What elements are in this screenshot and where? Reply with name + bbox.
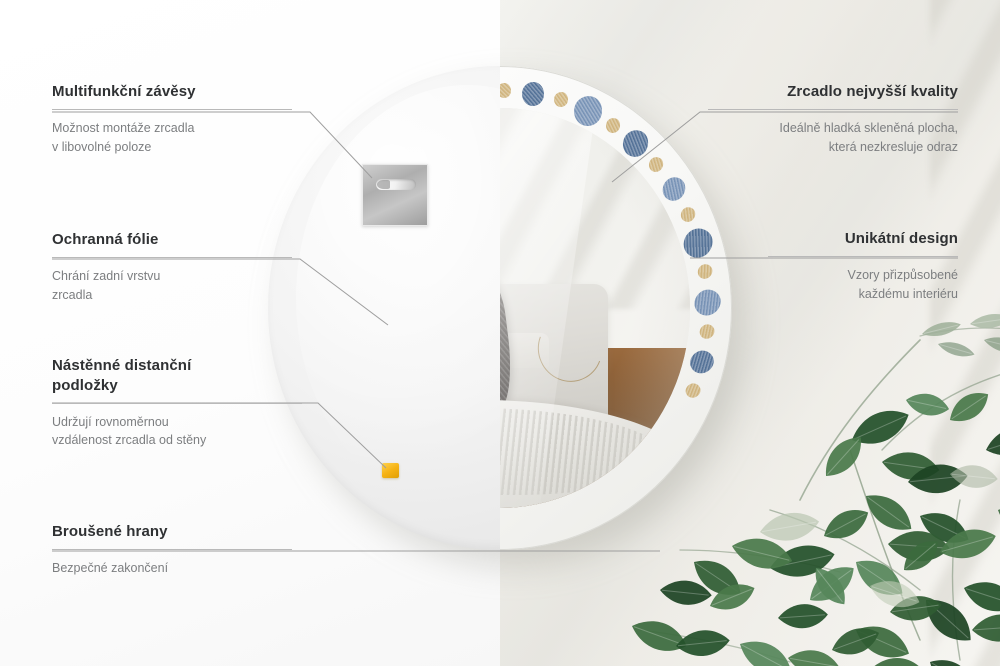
spacer-pad-icon [382, 463, 399, 478]
callout-title: Zrcadlo nejvyšší kvality [708, 82, 958, 102]
callout-protective-foil: Ochranná fólie Chrání zadní vrstvu zrcad… [52, 230, 292, 304]
hanger-keyhole-slot [376, 179, 416, 190]
deco-dot-gold [683, 381, 702, 400]
callout-title: Multifunkční závěsy [52, 82, 292, 102]
callout-title: Ochranná fólie [52, 230, 292, 250]
callout-top-quality-mirror: Zrcadlo nejvyšší kvality Ideálně hladká … [708, 82, 958, 156]
callout-multifunctional-hangers: Multifunkční závěsy Možnost montáže zrca… [52, 82, 292, 156]
callout-title: Unikátní design [768, 229, 958, 249]
hanger-plate-icon [362, 164, 428, 226]
callout-unique-design: Unikátní design Vzory přizpůsobené každé… [768, 229, 958, 303]
callout-description: Bezpečné zakončení [52, 559, 292, 578]
callout-description: Ideálně hladká skleněná plocha, která ne… [708, 119, 958, 157]
round-mirror [268, 66, 732, 550]
callout-description: Udržují rovnoměrnou vzdálenost zrcadla o… [52, 413, 302, 451]
callout-description: Možnost montáže zrcadla v libovolné polo… [52, 119, 292, 157]
deco-dot-gold [697, 322, 717, 342]
deco-dot-blue [619, 126, 653, 161]
deco-dot-gold [695, 262, 716, 283]
callout-divider [52, 257, 292, 258]
callout-divider [708, 109, 958, 110]
callout-divider [52, 109, 292, 110]
deco-dot-blue [678, 223, 719, 264]
callout-divider [52, 403, 302, 404]
callout-wall-spacers: Nástěnné distanční podložky Udržují rovn… [52, 356, 302, 450]
callout-description: Vzory přizpůsobené každému interiéru [768, 266, 958, 304]
callout-title: Broušené hrany [52, 522, 292, 542]
infographic-canvas: Multifunkční závěsy Možnost montáže zrca… [0, 0, 1000, 666]
deco-dot-blue [570, 93, 605, 129]
callout-divider [768, 256, 958, 257]
deco-dot-blue [690, 284, 727, 320]
deco-dot-blue [686, 347, 717, 377]
callout-polished-edges: Broušené hrany Bezpečné zakončení [52, 522, 292, 578]
deco-dot-gold [552, 91, 568, 108]
deco-dot-gold [678, 204, 698, 225]
deco-dot-gold [604, 116, 622, 135]
deco-dot-blue [521, 81, 545, 107]
callout-divider [52, 549, 292, 550]
callout-title: Nástěnné distanční podložky [52, 356, 302, 396]
deco-dot-blue [658, 173, 690, 205]
callout-description: Chrání zadní vrstvu zrcadla [52, 267, 292, 305]
deco-dot-gold [646, 154, 666, 174]
